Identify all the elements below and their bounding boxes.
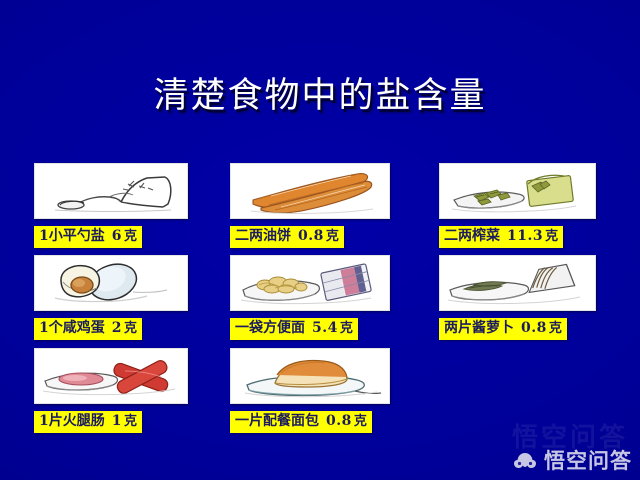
food-unit: 克 bbox=[326, 229, 339, 244]
food-name: 1片火腿肠 bbox=[39, 413, 105, 429]
food-image-card bbox=[230, 163, 390, 219]
food-label: 1片火腿肠1克 bbox=[34, 411, 142, 433]
food-image-card bbox=[34, 163, 188, 219]
food-amount: 0.8 bbox=[326, 413, 352, 429]
food-item-pickled-radish[interactable]: 两片酱萝卜0.8克 bbox=[439, 255, 596, 340]
food-name: 1小平勺盐 bbox=[39, 228, 105, 244]
food-name: 1个咸鸡蛋 bbox=[39, 320, 105, 336]
food-amount: 0.8 bbox=[521, 320, 547, 336]
food-name: 两片酱萝卜 bbox=[444, 320, 514, 336]
food-salt-grid: 1小平勺盐6克 bbox=[34, 163, 612, 433]
food-unit: 克 bbox=[124, 321, 137, 336]
food-label: 一片配餐面包0.8克 bbox=[230, 411, 372, 433]
food-label: 1个咸鸡蛋2克 bbox=[34, 318, 142, 340]
food-image-card bbox=[230, 255, 390, 311]
food-amount: 5.4 bbox=[312, 320, 338, 336]
food-unit: 克 bbox=[124, 229, 137, 244]
food-amount: 6 bbox=[112, 228, 122, 244]
ham-sausage-sketch-icon bbox=[35, 349, 187, 403]
food-item-salt-spoon[interactable]: 1小平勺盐6克 bbox=[34, 163, 188, 248]
food-item-fried-dough[interactable]: 二两油饼0.8克 bbox=[230, 163, 390, 248]
food-image-card bbox=[439, 255, 596, 311]
watermark-text: 悟空问答 bbox=[544, 450, 632, 472]
food-label: 二两油饼0.8克 bbox=[230, 226, 344, 248]
watermark: 悟空问答 bbox=[512, 450, 632, 472]
pickled-mustard-sketch-icon bbox=[440, 164, 595, 218]
food-item-instant-noodles[interactable]: 一袋方便面5.4克 bbox=[230, 255, 390, 340]
page-title: 清楚食物中的盐含量 bbox=[0, 74, 640, 118]
presentation-slide: 清楚食物中的盐含量 bbox=[0, 0, 640, 480]
food-item-pickled-mustard[interactable]: 二两榨菜11.3克 bbox=[439, 163, 596, 248]
food-amount: 0.8 bbox=[298, 228, 324, 244]
food-unit: 克 bbox=[340, 321, 353, 336]
food-amount: 11.3 bbox=[507, 228, 543, 244]
food-item-bread-slice[interactable]: 一片配餐面包0.8克 bbox=[230, 348, 390, 433]
food-name: 一片配餐面包 bbox=[235, 413, 319, 429]
food-label: 一袋方便面5.4克 bbox=[230, 318, 358, 340]
food-label: 二两榨菜11.3克 bbox=[439, 226, 563, 248]
food-label: 两片酱萝卜0.8克 bbox=[439, 318, 567, 340]
food-unit: 克 bbox=[545, 229, 558, 244]
food-image-card bbox=[34, 255, 188, 311]
food-item-ham-sausage[interactable]: 1片火腿肠1克 bbox=[34, 348, 188, 433]
salt-spoon-sketch-icon bbox=[35, 164, 187, 218]
wukong-logo-icon bbox=[512, 450, 538, 472]
food-label: 1小平勺盐6克 bbox=[34, 226, 142, 248]
food-unit: 克 bbox=[354, 414, 367, 429]
food-name: 一袋方便面 bbox=[235, 320, 305, 336]
food-amount: 1 bbox=[112, 413, 122, 429]
food-image-card bbox=[230, 348, 390, 404]
food-name: 二两榨菜 bbox=[444, 228, 500, 244]
fried-dough-sticks-sketch-icon bbox=[231, 164, 389, 218]
pickled-radish-sketch-icon bbox=[440, 256, 595, 310]
food-amount: 2 bbox=[112, 320, 122, 336]
food-image-card bbox=[439, 163, 596, 219]
food-name: 二两油饼 bbox=[235, 228, 291, 244]
instant-noodles-sketch-icon bbox=[231, 256, 389, 310]
food-unit: 克 bbox=[549, 321, 562, 336]
food-unit: 克 bbox=[124, 414, 137, 429]
bread-slice-sketch-icon bbox=[231, 349, 389, 403]
salted-egg-sketch-icon bbox=[35, 256, 187, 310]
food-item-salted-egg[interactable]: 1个咸鸡蛋2克 bbox=[34, 255, 188, 340]
food-image-card bbox=[34, 348, 188, 404]
